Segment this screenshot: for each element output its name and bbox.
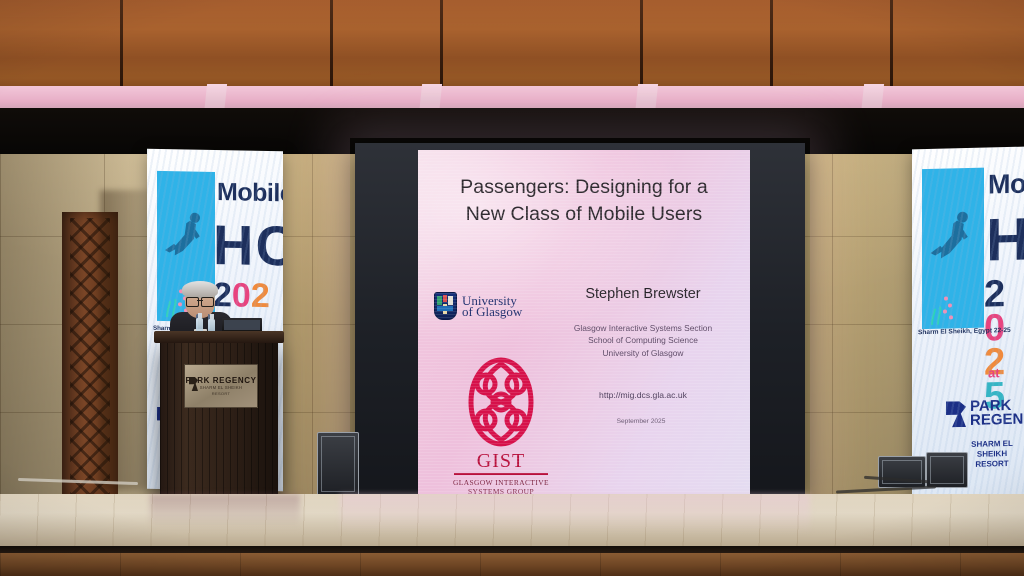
lectern-plaque: PARK REGENCY SHARM EL SHEIKH RESORT	[184, 364, 258, 408]
glasses-icon	[186, 297, 214, 305]
conference-photo-scene: Mobile HCI 2025 Sharm El Sheikh, Egypt 2…	[0, 0, 1024, 576]
slide-date: September 2025	[548, 418, 734, 425]
affiliation-line3: University of Glasgow	[550, 347, 736, 359]
banner-left-mobile-text: Mobile	[217, 178, 283, 208]
gist-underline	[454, 473, 548, 475]
uofg-line2: of Glasgow	[462, 306, 522, 318]
stage-front-panel	[0, 553, 1024, 576]
road-case	[878, 456, 926, 488]
affiliation-line1: Glasgow Interactive Systems Section	[550, 322, 736, 334]
lectern: PARK REGENCY SHARM EL SHEIKH RESORT	[160, 340, 278, 518]
banner-right-year: 2025	[984, 277, 1024, 414]
scuba-diver-icon	[157, 200, 215, 268]
banner-right-hci-text: HCI	[986, 203, 1024, 275]
sponsor-name-line1: PARK	[970, 398, 1024, 414]
celtic-knot-icon	[464, 356, 538, 448]
lectern-top	[154, 331, 284, 343]
presentation-slide: Passengers: Designing for a New Class of…	[418, 150, 750, 495]
banner-right-location: Sharm El Sheikh, Egypt 22-25	[918, 327, 1011, 336]
sponsor-name-line2: REGENCY	[970, 412, 1024, 428]
slide-url: http://mig.dcs.gla.ac.uk	[550, 390, 736, 400]
gist-logo: GIST GLASGOW INTERACTIVE SYSTEMS GROUP	[444, 356, 558, 495]
slide-title: Passengers: Designing for a New Class of…	[432, 174, 736, 228]
conference-banner-right: Mobile HCI 2025 Sharm El Sheikh, Egypt 2…	[912, 147, 1024, 498]
affiliation-line2: School of Computing Science	[550, 334, 736, 346]
university-of-glasgow-logo: University of Glasgow	[434, 292, 522, 320]
banner-right-at-label: at	[988, 365, 1000, 380]
stage-reflection	[340, 494, 810, 534]
road-case	[926, 452, 968, 488]
banner-left-hci-text: HCI	[213, 212, 283, 279]
park-regency-mark-icon	[946, 401, 966, 427]
gist-name: GIST	[444, 451, 558, 471]
banner-right-mobile-text: Mobile	[988, 167, 1024, 200]
coral-bubbles-icon	[928, 290, 958, 325]
presenter-hair	[182, 281, 218, 298]
stage-reflection	[150, 494, 300, 528]
slide-title-line1: Passengers: Designing for a	[432, 174, 736, 201]
slide-speaker-name: Stephen Brewster	[550, 286, 736, 302]
sponsor-sub-line1: SHARM EL SHEIKH	[960, 439, 1024, 461]
glasgow-crest-icon	[434, 292, 457, 320]
diver-graphic-panel	[922, 168, 984, 330]
banner-right-sponsor-logo: PARK REGENCY	[946, 398, 1024, 428]
plaque-line3: RESORT	[212, 391, 230, 396]
slide-title-line2: New Class of Mobile Users	[432, 201, 736, 228]
scuba-diver-icon	[922, 199, 984, 272]
sponsor-sub-line2: RESORT	[960, 459, 1024, 471]
gist-sub-line1: GLASGOW INTERACTIVE	[444, 478, 558, 488]
slide-affiliation: Glasgow Interactive Systems Section Scho…	[550, 322, 736, 359]
road-case	[317, 432, 359, 496]
